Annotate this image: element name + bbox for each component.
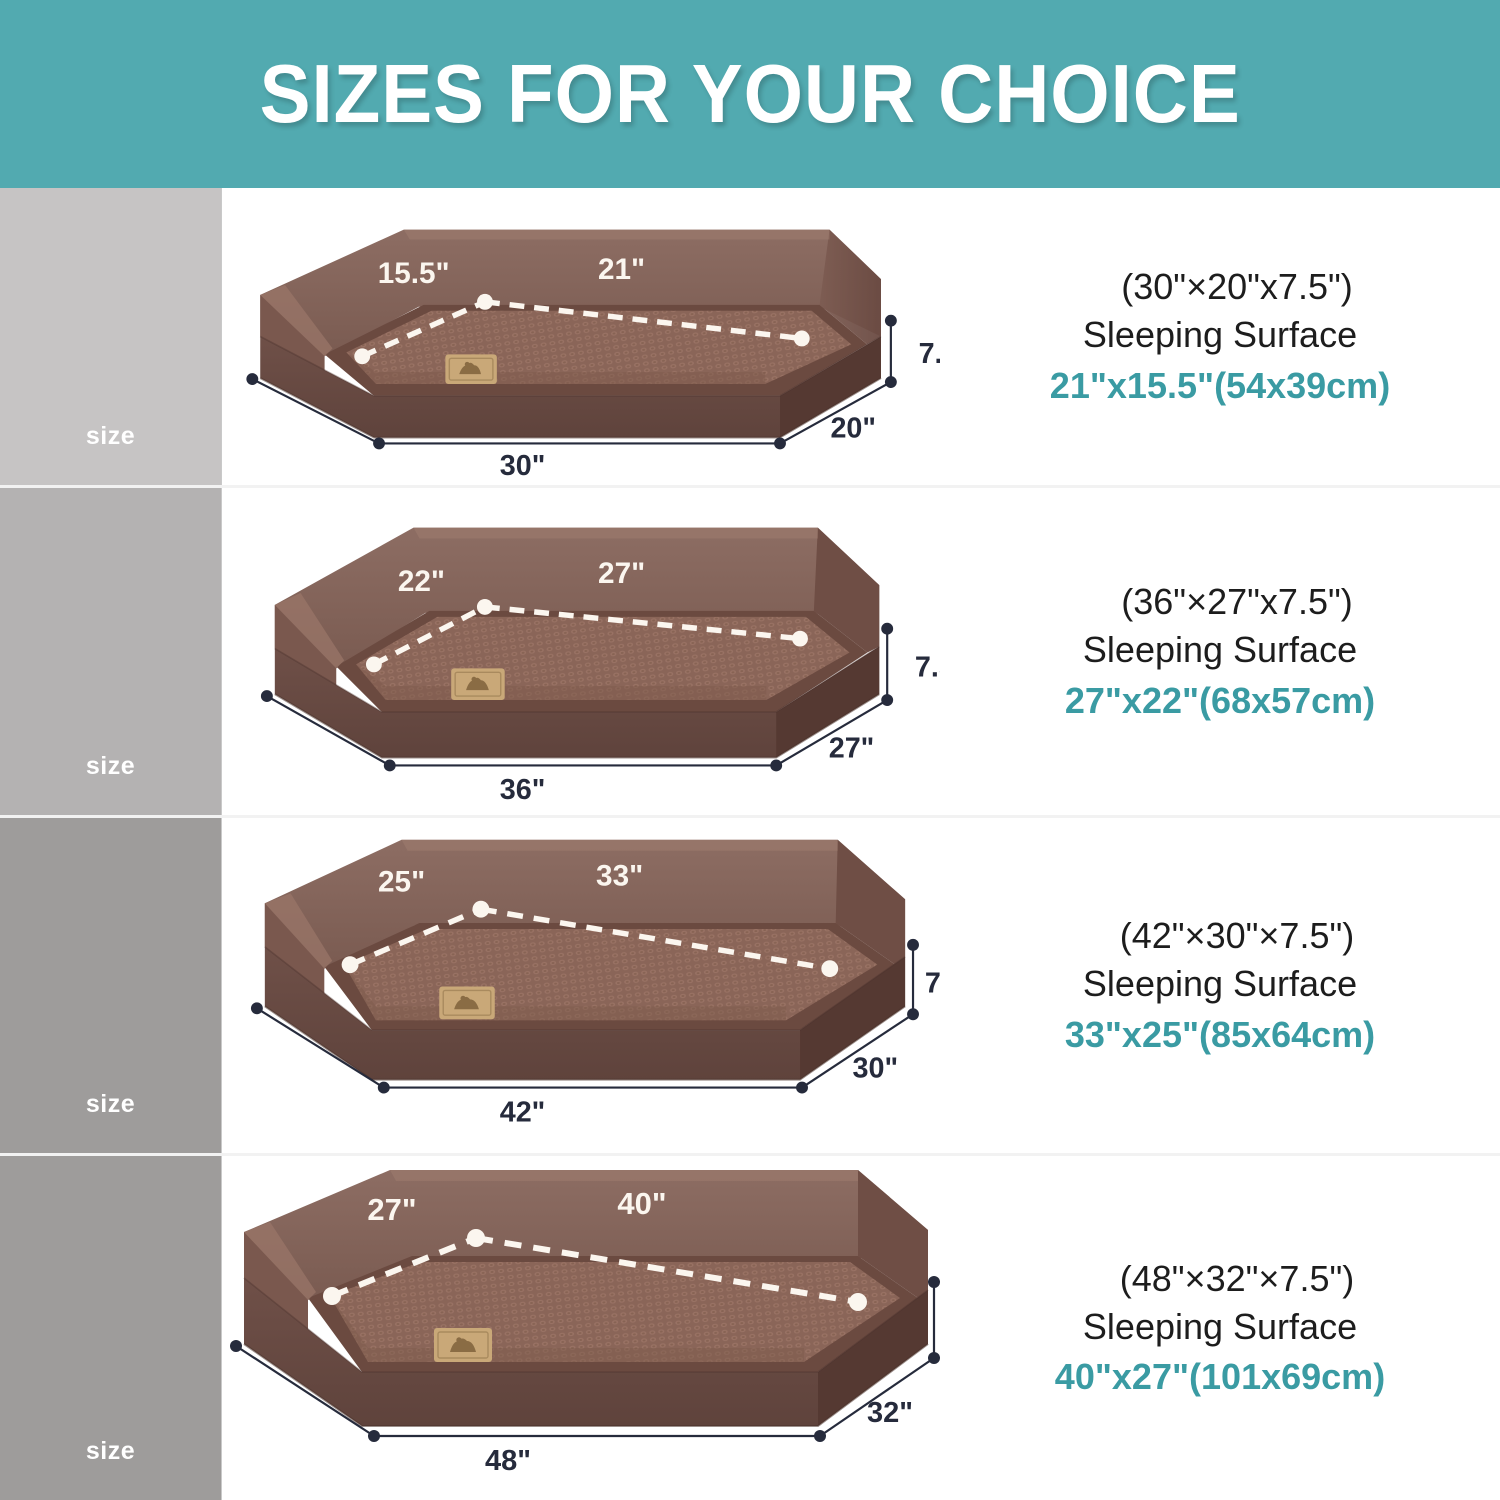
outer-length-label: 42": [500, 1096, 546, 1128]
dog-logo-patch: [451, 668, 505, 700]
sleeping-surface-label: Sleeping Surface: [1005, 960, 1435, 1008]
spec-cell: (30"×20"x7.5") Sleeping Surface 21"x15.5…: [940, 188, 1500, 485]
dimension-dot: [342, 956, 359, 973]
dimension-dot: [849, 1293, 867, 1311]
height-label: 7.5": [925, 967, 940, 999]
dimension-dot: [467, 1229, 485, 1247]
dog-logo-patch: [434, 1328, 492, 1362]
outer-depth-label: 30": [853, 1053, 899, 1085]
bed-body: [260, 230, 881, 438]
outer-dimensions-text: (36"×27"x7.5"): [1005, 578, 1435, 626]
dimension-dot: [792, 631, 808, 647]
table-row: size: [0, 818, 1500, 1156]
dimension-dot: [472, 901, 489, 918]
outer-dimensions-text: (48"×32"×7.5"): [1005, 1255, 1435, 1303]
inner-width-label: 21": [598, 253, 645, 286]
inner-depth-label: 27": [367, 1192, 416, 1227]
outer-dimensions-text: (42"×30"×7.5"): [1005, 912, 1435, 960]
size-chart-page: SIZES FOR YOUR CHOICE size: [0, 0, 1500, 1500]
dimension-dot: [477, 599, 493, 615]
inner-width-label: 33": [596, 859, 643, 892]
sleeping-surface-value: 27"x22"(68x57cm): [1005, 677, 1435, 725]
outer-length-label: 48": [485, 1445, 531, 1477]
outer-depth-label: 27": [829, 733, 875, 765]
outer-length-label: 36": [500, 774, 546, 806]
inner-width-label: 40": [617, 1186, 666, 1221]
sleeping-surface-label: Sleeping Surface: [1005, 311, 1435, 359]
size-label: size: [86, 422, 135, 451]
bed-illustration: 15.5" 21" 30" 20" 7: [222, 188, 940, 485]
table-row: size: [0, 1156, 1500, 1500]
sleeping-surface-value: 21"x15.5"(54x39cm): [1005, 362, 1435, 410]
dimension-dot: [354, 348, 370, 364]
outer-length-label: 30": [500, 450, 546, 482]
table-row: size: [0, 488, 1500, 818]
inner-depth-label: 22": [398, 565, 445, 598]
dog-logo-patch: [445, 354, 496, 384]
page-title: SIZES FOR YOUR CHOICE: [259, 46, 1240, 142]
bed-body: [275, 528, 879, 758]
size-label: size: [86, 752, 135, 781]
sleeping-surface-label: Sleeping Surface: [1005, 626, 1435, 674]
size-swatch-cell: size: [0, 818, 222, 1153]
table-row: size: [0, 188, 1500, 488]
sleeping-surface-label: Sleeping Surface: [1005, 1303, 1435, 1351]
dimension-dot: [323, 1287, 341, 1305]
sleeping-surface-value: 33"x25"(85x64cm): [1005, 1011, 1435, 1059]
size-label: size: [86, 1090, 135, 1119]
dog-logo-patch: [439, 986, 495, 1019]
size-swatch-cell: size: [0, 188, 222, 485]
sleeping-surface-value: 40"x27"(101x69cm): [1005, 1353, 1435, 1401]
inner-depth-label: 25": [378, 865, 425, 898]
height-label: 7.5": [915, 651, 940, 683]
size-swatch-cell: size: [0, 488, 222, 815]
bed-illustration: 22" 27" 36" 27" 7.5": [222, 488, 940, 815]
header-banner: SIZES FOR YOUR CHOICE: [0, 0, 1500, 188]
inner-width-label: 27": [598, 557, 645, 590]
outer-dimensions-text: (30"×20"x7.5"): [1005, 263, 1435, 311]
dimension-dot: [477, 294, 493, 310]
bed-illustration: 27" 40" 48" 32" 7.5": [222, 1156, 940, 1500]
dimension-dot: [366, 656, 382, 672]
dimension-dot: [821, 960, 838, 977]
size-label: size: [86, 1437, 135, 1466]
inner-depth-label: 15.5": [378, 257, 450, 290]
dimension-dot: [794, 331, 810, 347]
outer-depth-label: 20": [830, 412, 876, 444]
size-swatch-cell: size: [0, 1156, 222, 1500]
spec-cell: (36"×27"x7.5") Sleeping Surface 27"x22"(…: [940, 488, 1500, 815]
outer-depth-label: 32": [867, 1397, 913, 1429]
spec-cell: (48"×32"×7.5") Sleeping Surface 40"x27"(…: [940, 1156, 1500, 1500]
bed-illustration: 25" 33" 42" 30" 7.5": [222, 818, 940, 1153]
spec-cell: (42"×30"×7.5") Sleeping Surface 33"x25"(…: [940, 818, 1500, 1153]
size-rows: size: [0, 188, 1500, 1500]
height-label: 7.5": [919, 338, 940, 370]
